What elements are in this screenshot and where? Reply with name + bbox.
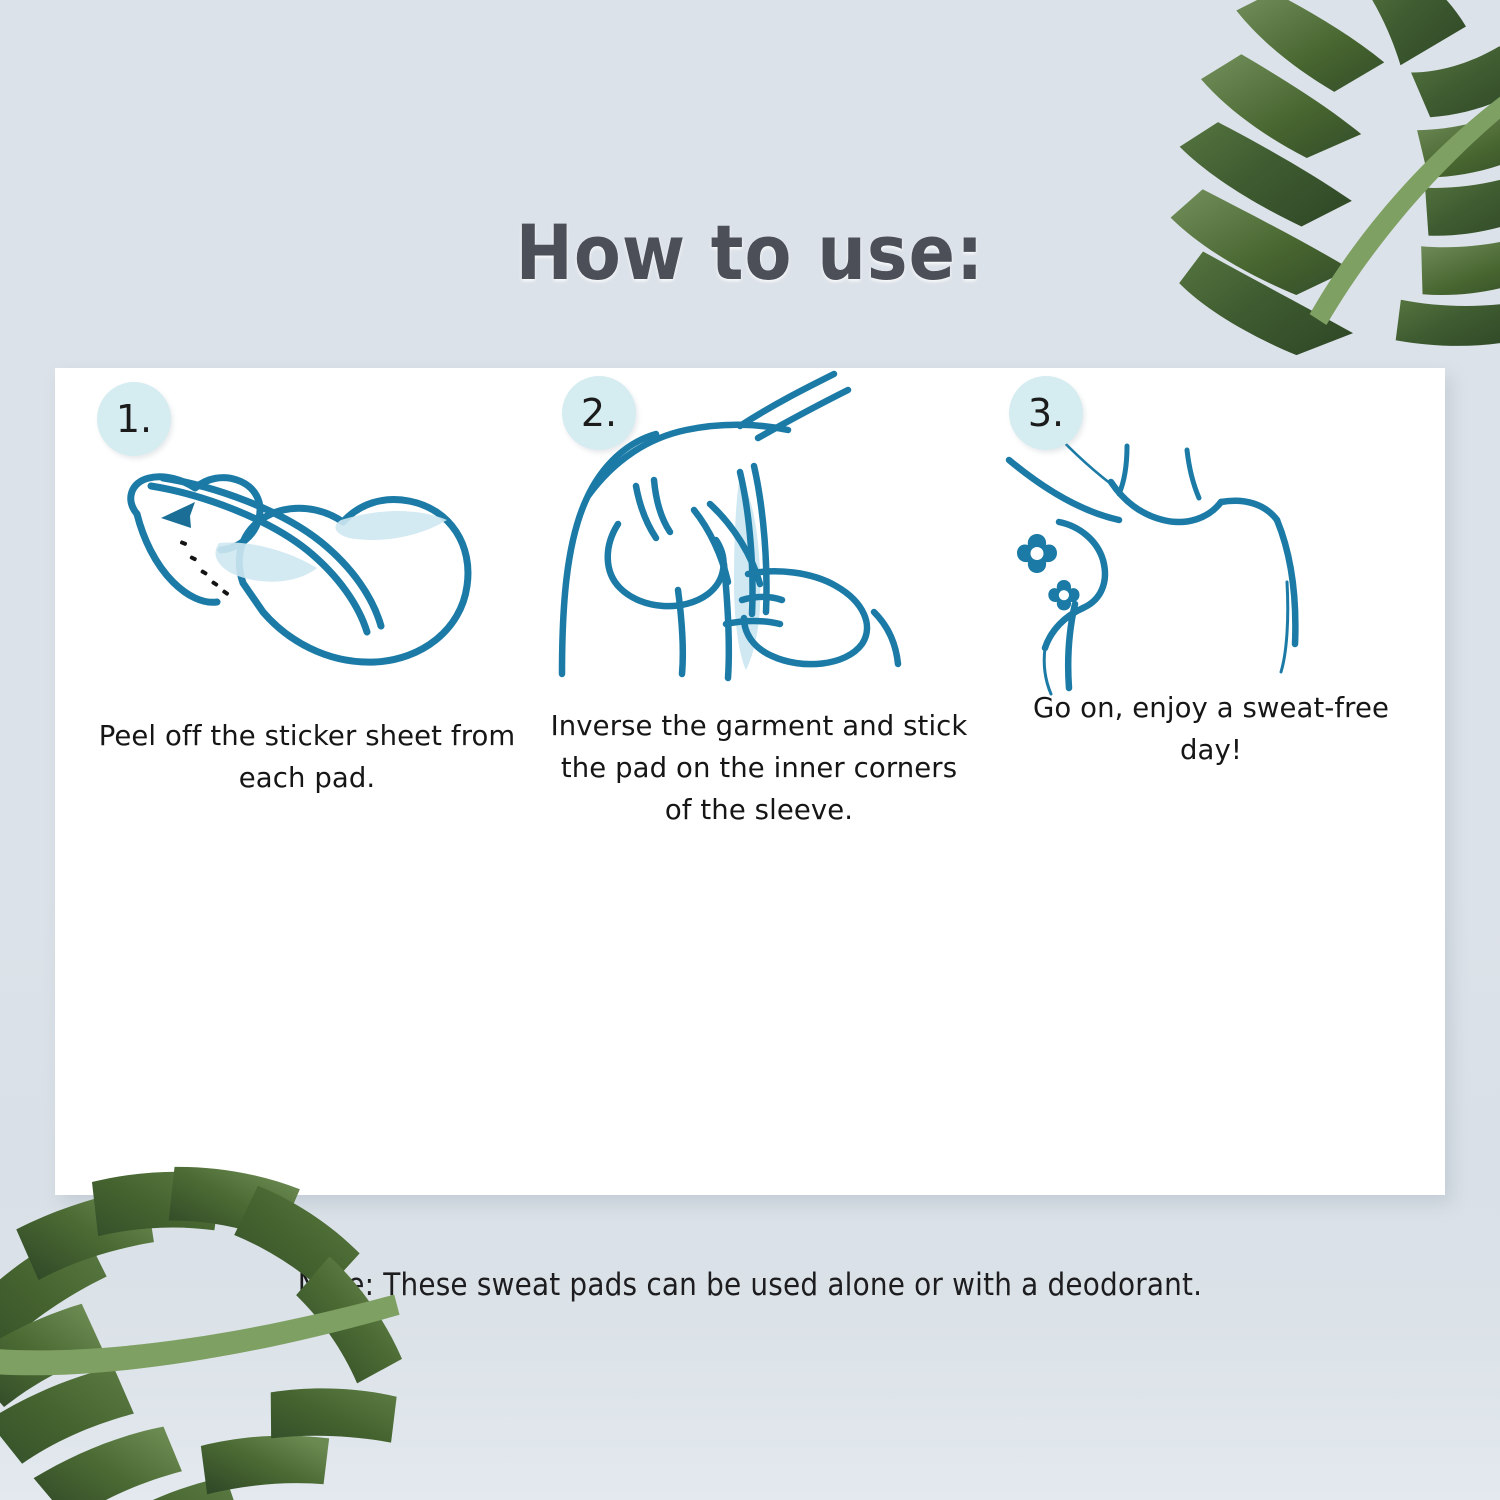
footer-note: Note: These sweat pads can be used alone…	[0, 1267, 1500, 1303]
step-3-number-badge: 3.	[1009, 376, 1083, 450]
monstera-leaf-icon-top-right	[1059, 0, 1500, 392]
step-3: 3.	[987, 368, 1417, 1068]
step-3-caption: Go on, enjoy a sweat-free day!	[1011, 688, 1411, 772]
page-title: How to use:	[0, 208, 1500, 297]
flower-group	[1017, 534, 1080, 610]
infographic-canvas: How to use: 1.	[0, 0, 1500, 1500]
steps-row: 1.	[55, 368, 1445, 1195]
step-2-number-badge: 2.	[562, 376, 636, 450]
steps-card: 1.	[55, 368, 1445, 1195]
step-2-caption: Inverse the garment and stick the pad on…	[544, 706, 974, 831]
step-1-number-badge: 1.	[97, 382, 171, 456]
step-1: 1.	[91, 368, 521, 1068]
step-2: 2.	[544, 368, 974, 1068]
step-1-caption: Peel off the sticker sheet from each pad…	[97, 716, 517, 800]
